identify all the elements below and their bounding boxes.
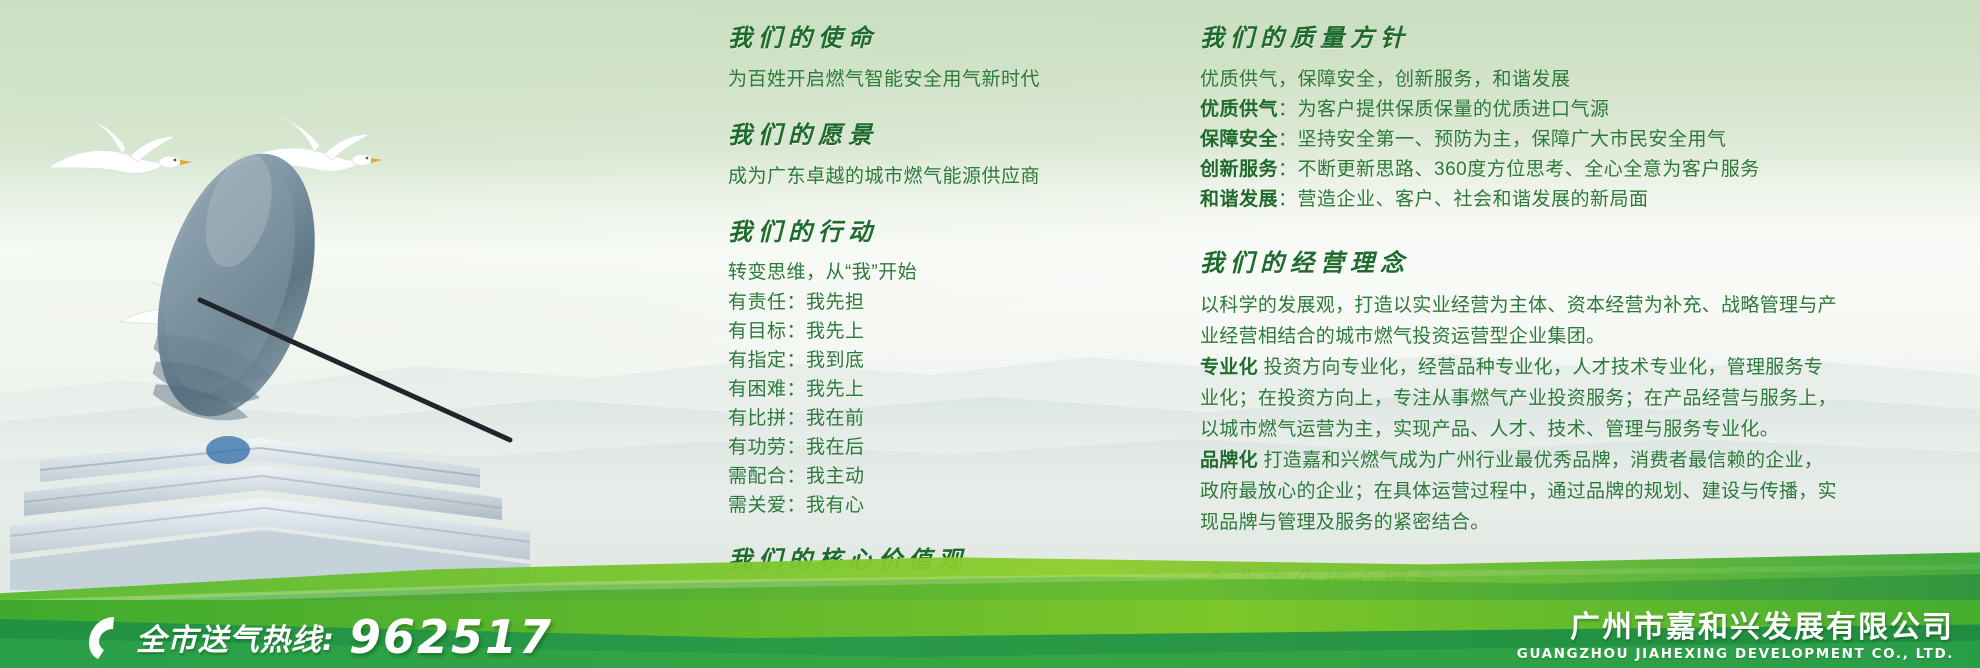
hotline-label: 全市送气热线: (136, 615, 335, 659)
company-name-en: GUANGZHOU JIAHEXING DEVELOPMENT CO., LTD… (1517, 646, 1954, 662)
sundial-monument-illustration (10, 120, 530, 590)
right-text-column: 我们的质量方针 优质供气，保障安全，创新服务，和谐发展 优质供气：为客户提供保质… (1200, 24, 1840, 638)
quality-item-text: 坚持安全第一、预防为主，保障广大市民安全用气 (1298, 129, 1727, 150)
action-item: 有功劳：我在后 (728, 433, 1198, 462)
quality-item-text: 不断更新思路、360度方位思考、全心全意为客户服务 (1298, 159, 1760, 180)
philosophy-paragraph: 以科学的发展观，打造以实业经营为主体、资本经营为补充、战略管理与产业经营相结合的… (1200, 290, 1840, 352)
quality-item: 优质供气：为客户提供保质保量的优质进口气源 (1200, 95, 1840, 125)
quality-item-text: 为客户提供保质保量的优质进口气源 (1298, 99, 1610, 120)
quality-item: 创新服务：不断更新思路、360度方位思考、全心全意为客户服务 (1200, 155, 1840, 185)
quality-item-sep: ： (1278, 129, 1298, 150)
quality-item-label: 和谐发展 (1200, 189, 1278, 210)
action-item: 有困难：我先上 (728, 375, 1198, 404)
section-title: 我们的质量方针 (1200, 24, 1840, 53)
quality-item-text: 营造企业、客户、社会和谐发展的新局面 (1298, 189, 1649, 210)
quality-item-sep: ： (1278, 159, 1298, 180)
quality-item: 保障安全：坚持安全第一、预防为主，保障广大市民安全用气 (1200, 125, 1840, 155)
action-item: 有比拼：我在前 (728, 404, 1198, 433)
quality-summary: 优质供气，保障安全，创新服务，和谐发展 (1200, 65, 1840, 95)
hotline-number: 962517 (349, 614, 553, 660)
dove-icon (110, 278, 250, 356)
philosophy-point-text: 打造嘉和兴燃气成为广州行业最优秀品牌，消费者最信赖的企业，政府最放心的企业；在具… (1200, 450, 1837, 533)
philosophy-point: 品牌化 打造嘉和兴燃气成为广州行业最优秀品牌，消费者最信赖的企业，政府最放心的企… (1200, 445, 1840, 538)
section-title: 我们的愿景 (728, 121, 1198, 150)
middle-text-column: 我们的使命 为百姓开启燃气智能安全用气新时代 我们的愿景 成为广东卓越的城市燃气… (728, 24, 1198, 668)
section-vision: 我们的愿景 成为广东卓越的城市燃气能源供应商 (728, 121, 1198, 192)
hotline-group[interactable]: 全市送气热线: 962517 (84, 614, 553, 660)
action-item: 有指定：我到底 (728, 346, 1198, 375)
section-title: 我们的行动 (728, 218, 1198, 247)
action-item: 有责任：我先担 (728, 288, 1198, 317)
poster-canvas: 我们的使命 为百姓开启燃气智能安全用气新时代 我们的愿景 成为广东卓越的城市燃气… (0, 0, 1980, 668)
quality-item-sep: ： (1278, 99, 1298, 120)
section-title: 我们的核心价值观 (728, 546, 1198, 575)
quality-item-label: 优质供气 (1200, 99, 1278, 120)
philosophy-point-text: 投资方向专业化，经营品种专业化，人才技术专业化，管理服务专业化；在投资方向上，专… (1200, 357, 1837, 440)
philosophy-point: 专业化 投资方向专业化，经营品种专业化，人才技术专业化，管理服务专业化；在投资方… (1200, 352, 1840, 445)
action-item-list: 有责任：我先担 有目标：我先上 有指定：我到底 有困难：我先上 有比拼：我在前 … (728, 288, 1198, 520)
section-action: 我们的行动 转变思维，从“我”开始 有责任：我先担 有目标：我先上 有指定：我到… (728, 218, 1198, 521)
quality-item-sep: ： (1278, 189, 1298, 210)
philosophy-point-label: 品牌化 (1200, 450, 1258, 471)
vision-line: 成为广东卓越的城市燃气能源供应商 (728, 162, 1198, 192)
section-title: 企业文化核心理念 (1200, 568, 1840, 597)
quality-item-label: 创新服务 (1200, 159, 1278, 180)
mission-line: 为百姓开启燃气智能安全用气新时代 (728, 65, 1198, 95)
dove-icon (228, 112, 398, 198)
section-title: 我们的使命 (728, 24, 1198, 53)
quality-item-label: 保障安全 (1200, 129, 1278, 150)
action-item: 有目标：我先上 (728, 317, 1198, 346)
section-management-philosophy: 我们的经营理念 以科学的发展观，打造以实业经营为主体、资本经营为补充、战略管理与… (1200, 249, 1840, 538)
dove-icon (30, 110, 210, 200)
action-item: 需关爱：我有心 (728, 491, 1198, 520)
section-quality-policy: 我们的质量方针 优质供气，保障安全，创新服务，和谐发展 优质供气：为客户提供保质… (1200, 24, 1840, 215)
philosophy-point-label: 专业化 (1200, 357, 1258, 378)
phone-icon (84, 614, 126, 660)
action-intro: 转变思维，从“我”开始 (728, 258, 1198, 288)
quality-item: 和谐发展：营造企业、客户、社会和谐发展的新局面 (1200, 185, 1840, 215)
action-item: 需配合：我主动 (728, 462, 1198, 491)
company-name-cn: 广州市嘉和兴发展有限公司 (1517, 612, 1954, 644)
section-mission: 我们的使命 为百姓开启燃气智能安全用气新时代 (728, 24, 1198, 95)
bottom-banner: 全市送气热线: 962517 广州市嘉和兴发展有限公司 GUANGZHOU JI… (0, 600, 1980, 668)
section-title: 我们的经营理念 (1200, 249, 1840, 278)
company-brand: 广州市嘉和兴发展有限公司 GUANGZHOU JIAHEXING DEVELOP… (1517, 612, 1954, 663)
